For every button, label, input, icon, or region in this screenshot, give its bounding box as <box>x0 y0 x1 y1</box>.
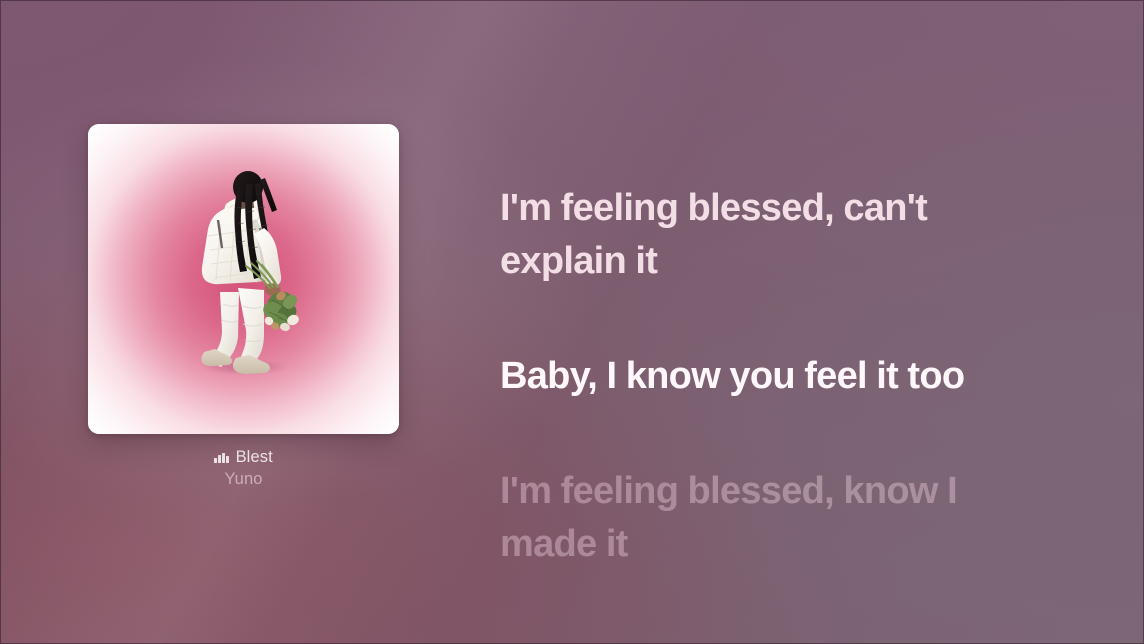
lyrics-panel[interactable]: I'm feeling blessed, can't explain it Ba… <box>500 182 1060 571</box>
lyric-line-next[interactable]: I'm feeling blessed, know I made it <box>500 465 1060 571</box>
album-artwork[interactable] <box>88 124 399 434</box>
track-title: Blest <box>236 447 273 467</box>
lyric-line-current[interactable]: Baby, I know you feel it too <box>500 350 1060 403</box>
track-metadata: Blest Yuno <box>88 447 399 490</box>
track-title-row: Blest <box>88 447 399 467</box>
artwork-figure-illustration <box>88 124 399 434</box>
track-artist: Yuno <box>88 469 399 490</box>
lyric-line-previous[interactable]: I'm feeling blessed, can't explain it <box>500 182 1060 288</box>
now-playing-screen: Blest Yuno I'm feeling blessed, can't ex… <box>0 0 1144 644</box>
equalizer-bars-icon <box>214 452 228 463</box>
now-playing-panel: Blest Yuno <box>88 124 399 490</box>
